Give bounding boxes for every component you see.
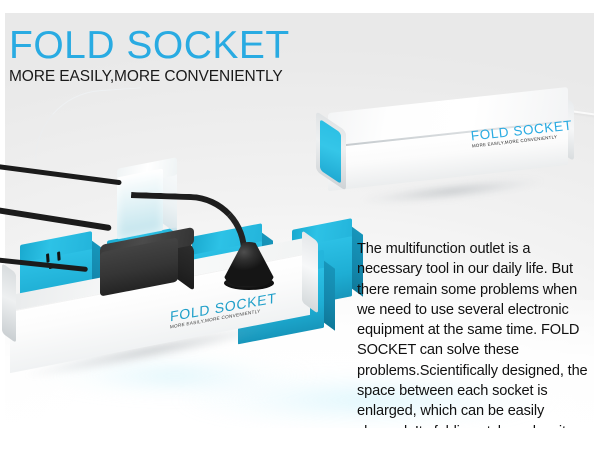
strip-base-left-cap xyxy=(2,263,16,343)
plug-cable xyxy=(129,192,249,260)
frame-band-right xyxy=(594,0,600,450)
black-conical-plug xyxy=(218,228,280,290)
frame-band-left xyxy=(0,0,5,450)
frame-band-bottom xyxy=(0,428,600,450)
socket-prong-slot-left xyxy=(46,253,49,263)
folded-socket-unit: FOLD SOCKET MORE EASILY,MORE CONVENIENTL… xyxy=(306,100,576,205)
page-tagline: MORE EASILY,MORE CONVENIENTLY xyxy=(9,68,290,86)
title-block: FOLD SOCKET MORE EASILY,MORE CONVENIENTL… xyxy=(9,26,290,86)
frame-band-top xyxy=(0,0,600,13)
socket-prong-slot-right xyxy=(57,251,60,261)
strip-base-right-cap xyxy=(302,230,318,314)
page-title: FOLD SOCKET xyxy=(9,26,290,66)
presentation-board: FOLD SOCKET MORE EASILY,MORE CONVENIENTL… xyxy=(0,0,600,450)
product-description: The multifunction outlet is a necessary … xyxy=(357,239,599,450)
antenna-wire xyxy=(30,87,146,172)
